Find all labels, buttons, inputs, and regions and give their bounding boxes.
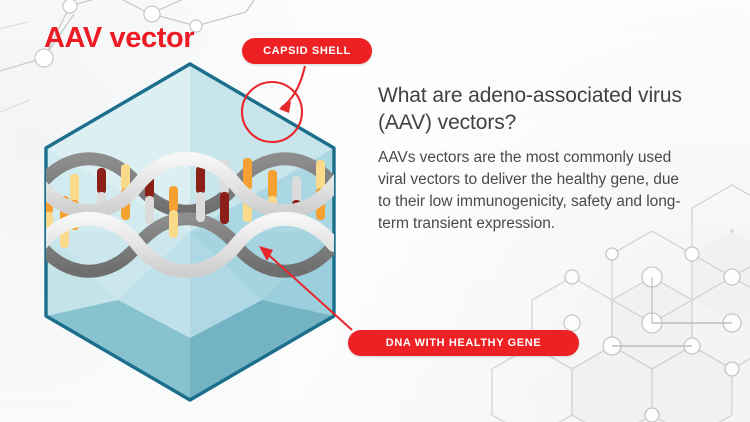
callout-badge-capsid-shell[interactable]: CAPSID SHELL [242,38,372,64]
callout-badge-capsid-shell-label: CAPSID SHELL [263,45,351,57]
callout-badge-dna-healthy-gene[interactable]: DNA WITH HEALTHY GENE [348,330,579,356]
infographic-canvas: AAV vector CAPSID SHELL DNA WITH HEALTHY… [0,0,750,422]
content-headline: What are adeno-associated virus (AAV) ve… [378,82,726,136]
capsid-shell-faces [46,64,334,400]
page-title: AAV vector [44,22,194,55]
content-body: AAVs vectors are the most commonly used … [378,147,688,235]
callout-badge-dna-healthy-gene-label: DNA WITH HEALTHY GENE [386,337,541,349]
content-block: What are adeno-associated virus (AAV) ve… [378,82,726,235]
